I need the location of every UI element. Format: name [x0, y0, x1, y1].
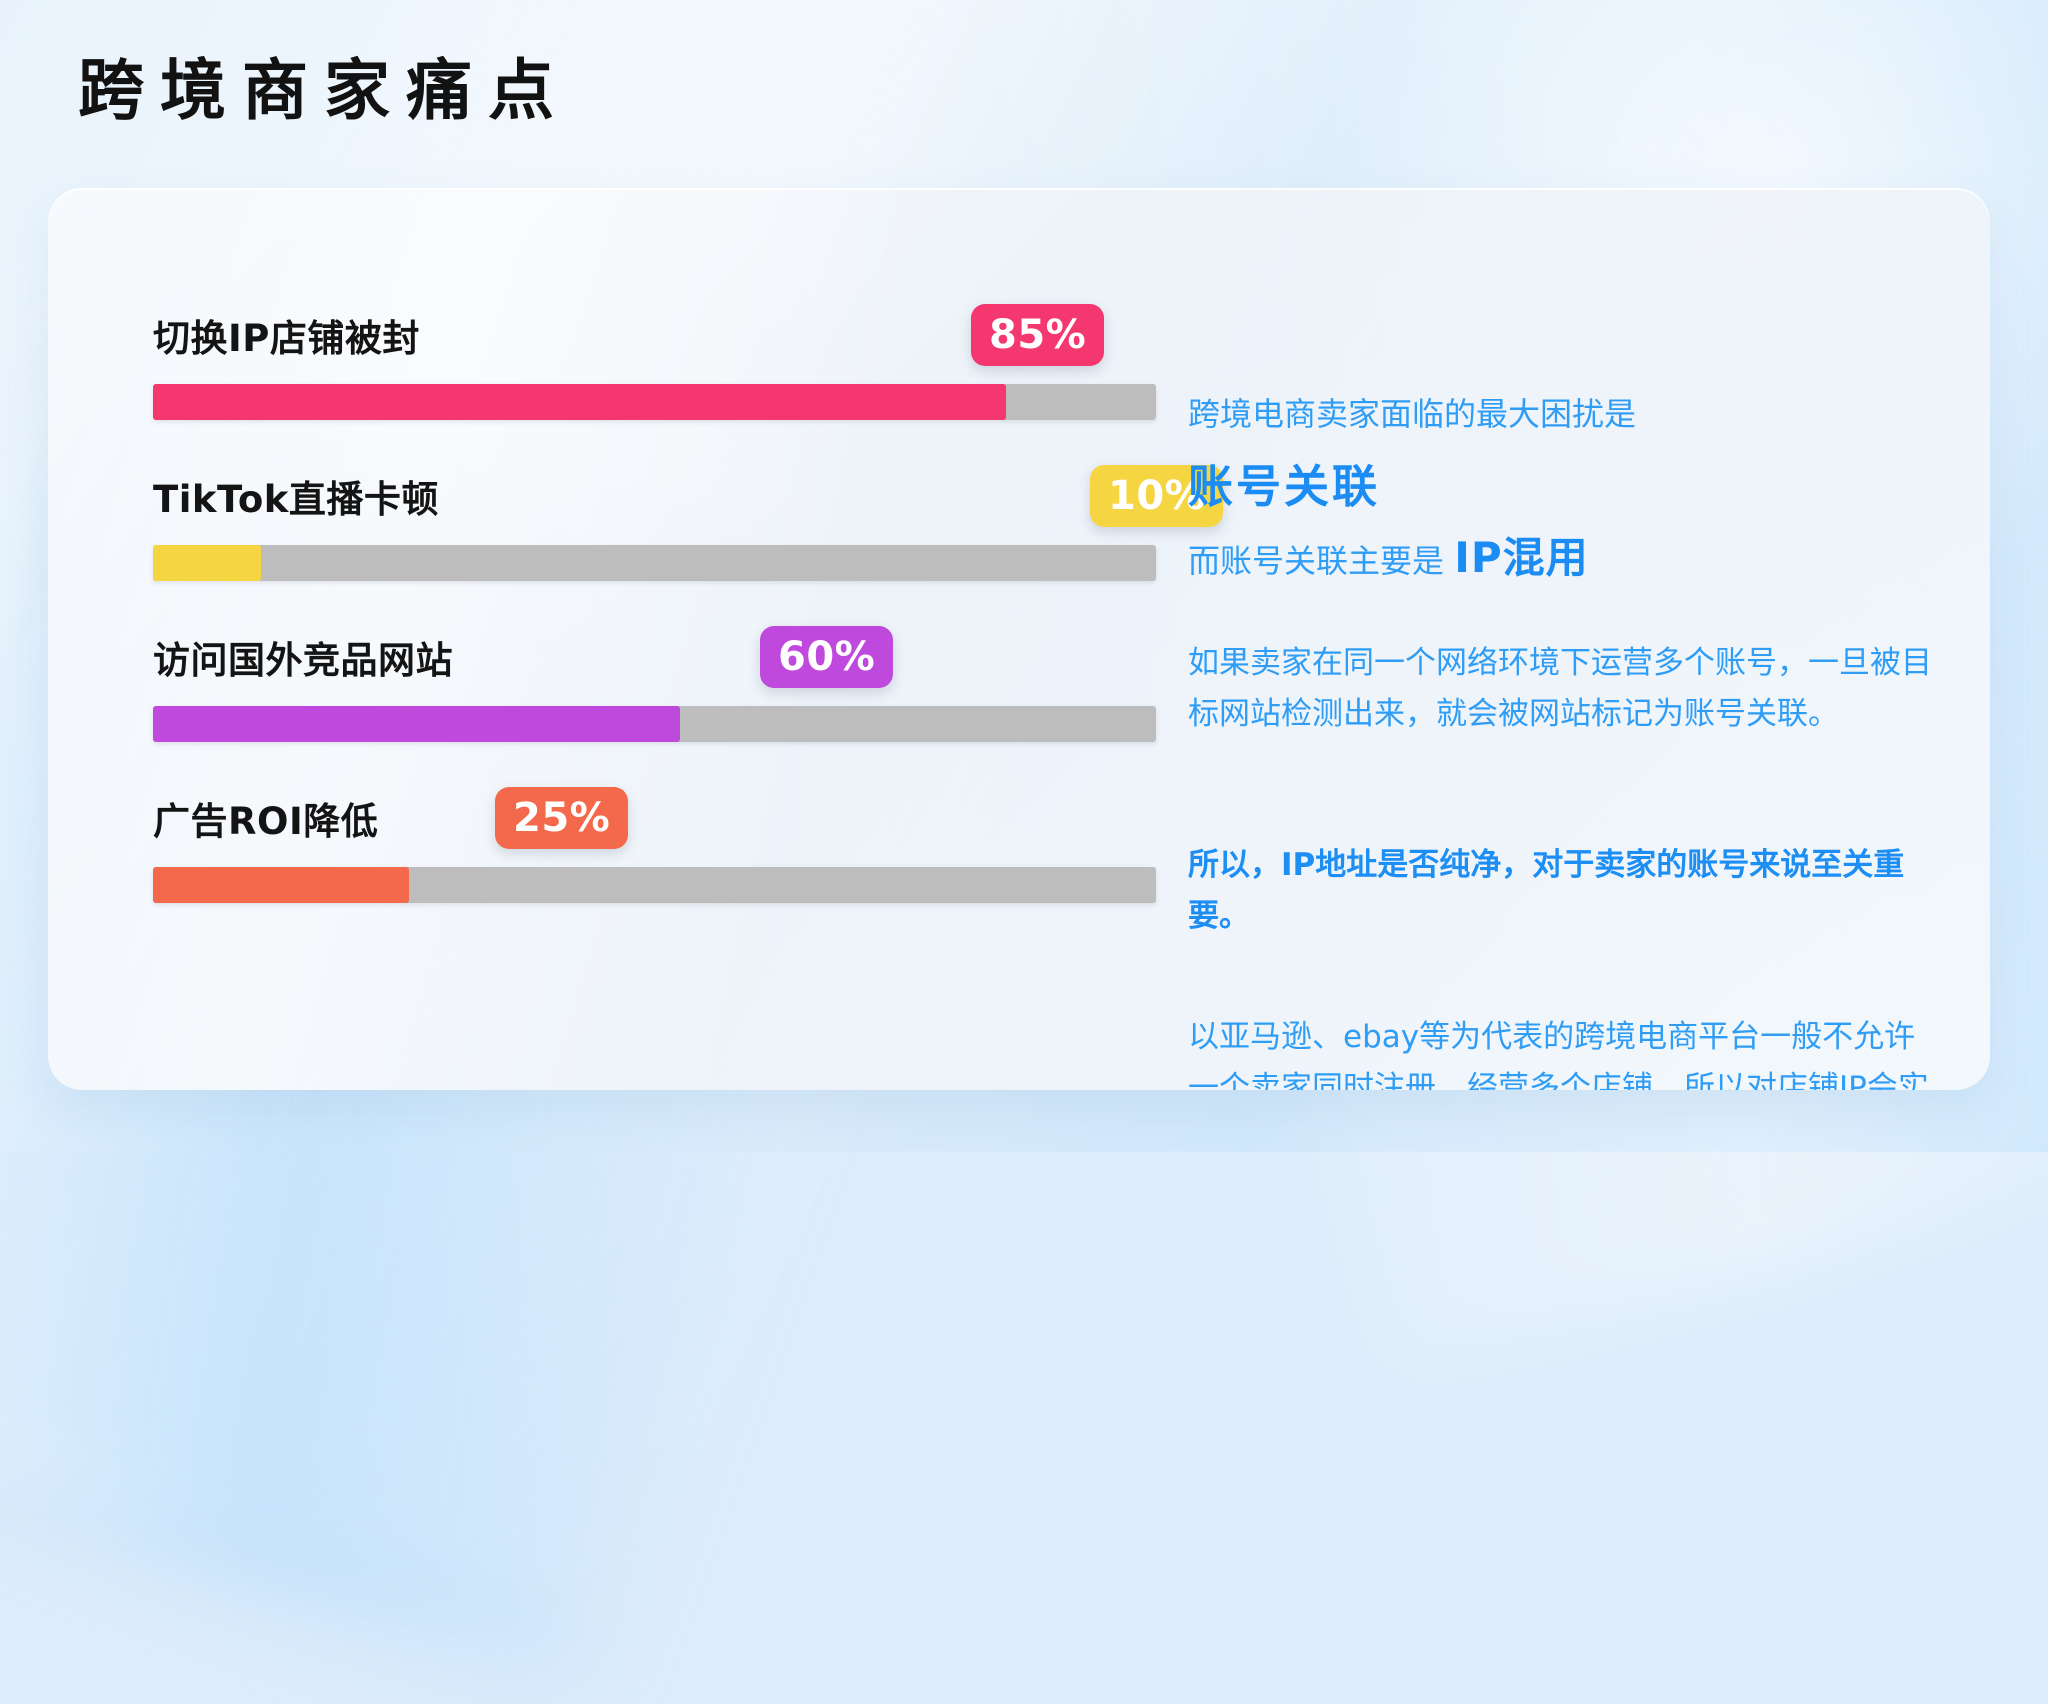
- panel-paragraph-3: 以亚马逊、ebay等为代表的跨境电商平台一般不允许一个卖家同时注册、经营多个店铺…: [1188, 1012, 1936, 1090]
- page-title: 跨境商家痛点: [78, 58, 570, 124]
- bar-track: [153, 384, 1156, 420]
- bar-track: [153, 706, 1156, 742]
- panel-paragraph-1: 如果卖家在同一个网络环境下运营多个账号，一旦被目标网站检测出来，就会被网站标记为…: [1188, 638, 1936, 740]
- bar-row-header: 广告ROI降低 25%: [105, 771, 1155, 855]
- panel-paragraph-2: 所以，IP地址是否纯净，对于卖家的账号来说至关重要。: [1188, 840, 1936, 942]
- pain-point-bar-chart: 切换IP店铺被封 85% TikTok直播卡顿 10% 访问国外竞品网站 60%: [105, 288, 1155, 932]
- panel-sub-emphasis: IP混用: [1454, 533, 1588, 582]
- panel-headline: 账号关联: [1188, 450, 1380, 515]
- bar-row: 广告ROI降低 25%: [105, 771, 1155, 932]
- panel-sub-prefix: 而账号关联主要是: [1188, 542, 1454, 580]
- bar-label: TikTok直播卡顿: [153, 469, 439, 523]
- bar-label: 切换IP店铺被封: [153, 308, 420, 362]
- bar-row-header: TikTok直播卡顿 10%: [105, 449, 1155, 533]
- bar-track: [153, 545, 1156, 581]
- bar-track: [153, 867, 1156, 903]
- bar-row-header: 访问国外竞品网站 60%: [105, 610, 1155, 694]
- bar-fill: [153, 706, 680, 742]
- panel-lead-text: 跨境电商卖家面临的最大困扰是: [1188, 390, 1928, 438]
- bar-row: 访问国外竞品网站 60%: [105, 610, 1155, 771]
- bar-value-badge: 25%: [495, 787, 628, 849]
- content-card: 切换IP店铺被封 85% TikTok直播卡顿 10% 访问国外竞品网站 60%: [48, 188, 1990, 1090]
- bar-fill: [153, 384, 1006, 420]
- bar-label: 访问国外竞品网站: [153, 630, 453, 684]
- bar-fill: [153, 545, 261, 581]
- bar-label: 广告ROI降低: [153, 791, 378, 845]
- panel-subheadline: 而账号关联主要是 IP混用: [1188, 526, 1928, 589]
- bar-row-header: 切换IP店铺被封 85%: [105, 288, 1155, 372]
- bar-row: 切换IP店铺被封 85%: [105, 288, 1155, 449]
- bar-value-badge: 85%: [971, 304, 1104, 366]
- bar-value-badge: 60%: [760, 626, 893, 688]
- explanation-panel: 跨境电商卖家面临的最大困扰是 账号关联 而账号关联主要是 IP混用 如果卖家在同…: [1188, 188, 1948, 1090]
- bar-fill: [153, 867, 409, 903]
- bar-row: TikTok直播卡顿 10%: [105, 449, 1155, 610]
